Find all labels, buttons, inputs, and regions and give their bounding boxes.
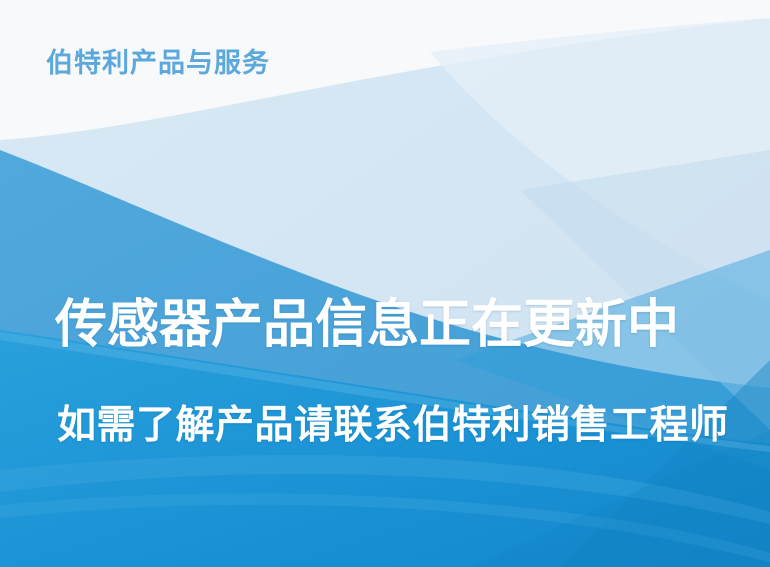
wave-background-art (0, 0, 770, 567)
brand-title: 伯特利产品与服务 (46, 48, 270, 79)
subheadline: 如需了解产品请联系伯特利销售工程师 (57, 404, 729, 448)
promo-banner: 伯特利产品与服务 传感器产品信息正在更新中 如需了解产品请联系伯特利销售工程师 (0, 0, 770, 567)
headline: 传感器产品信息正在更新中 (55, 296, 679, 354)
